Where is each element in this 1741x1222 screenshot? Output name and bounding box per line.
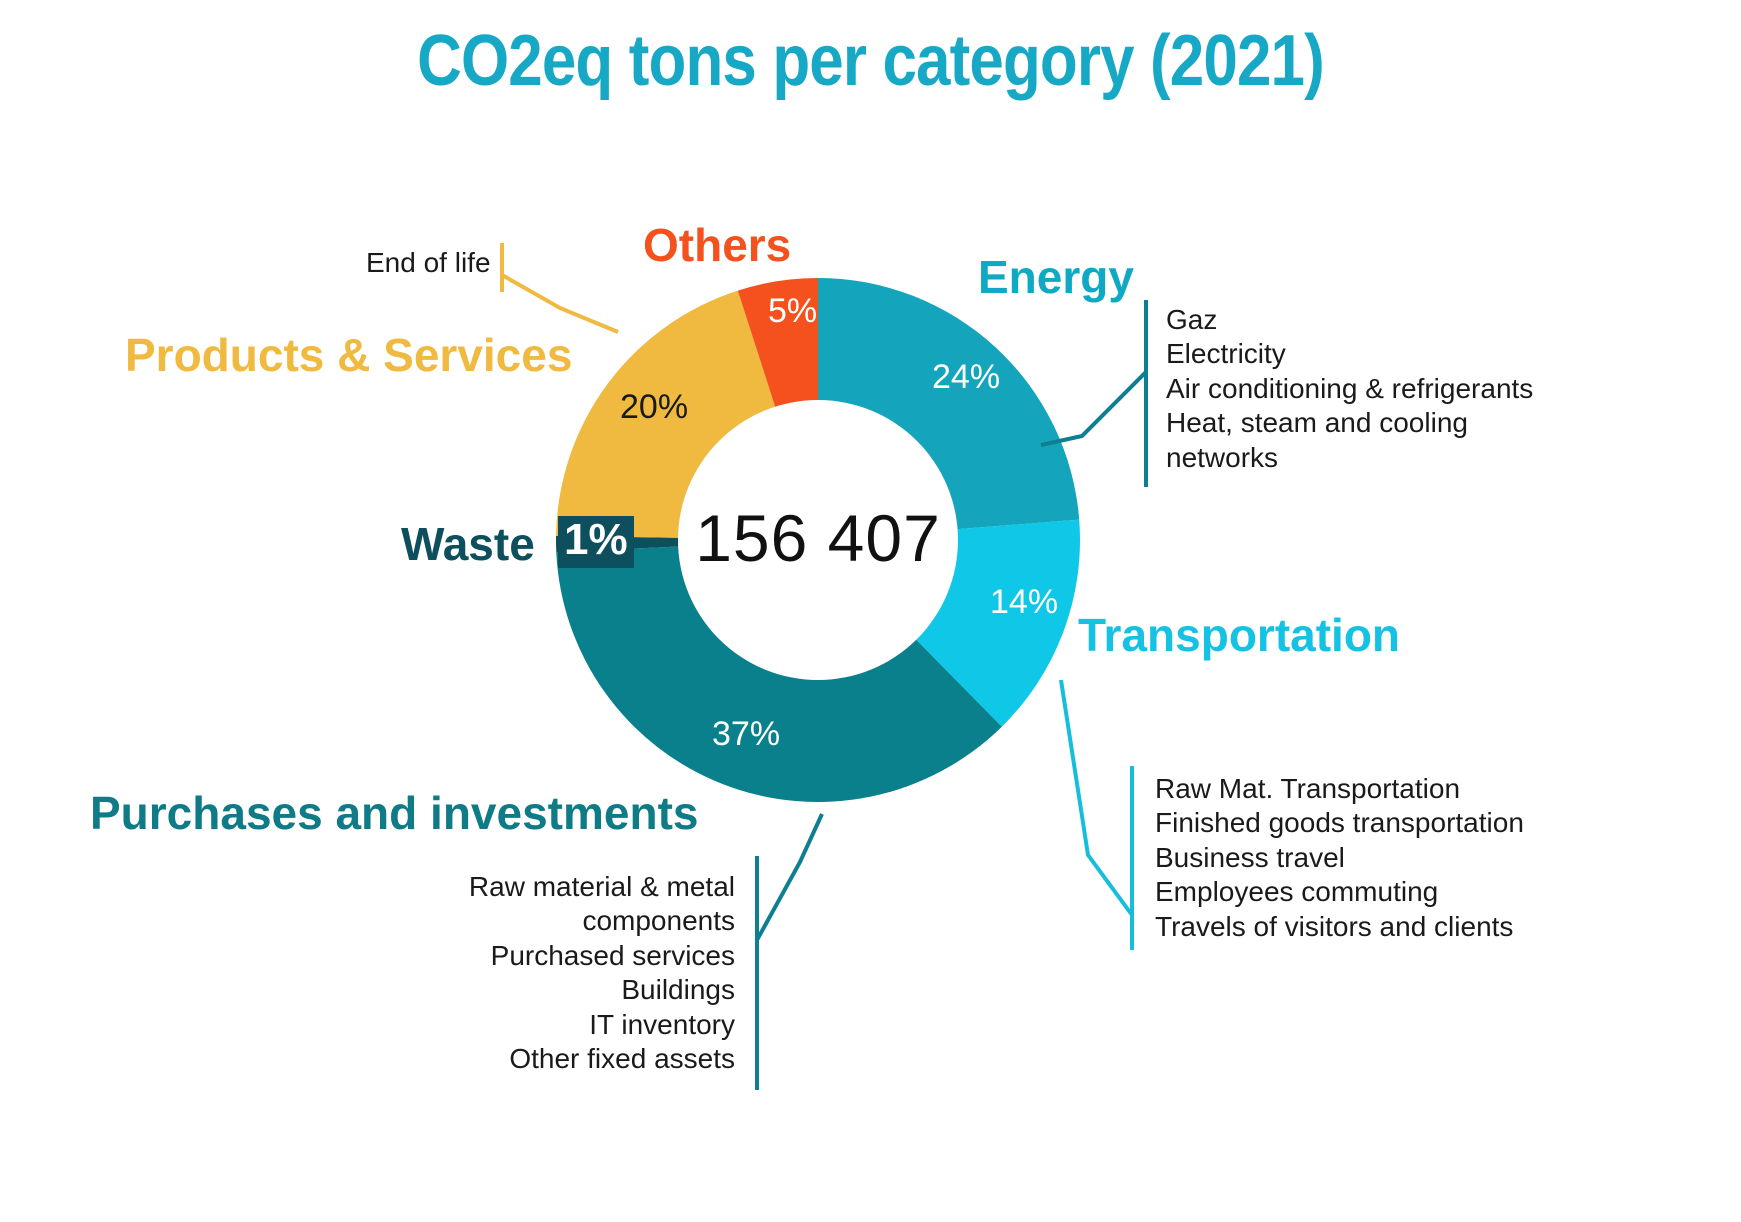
page-title: CO2eq tons per category (2021) [122,20,1619,102]
category-label-others: Others [643,218,791,272]
list-item: Air conditioning & refrigerants [1166,372,1533,406]
sublist-purchases: Raw material & metal components Purchase… [320,870,735,1077]
category-label-waste: Waste [401,517,535,571]
category-label-purchases: Purchases and investments [90,786,698,840]
slice-pct-energy: 24% [932,358,1000,397]
slice-pct-transportation: 14% [990,583,1058,622]
list-item: Business travel [1155,841,1524,875]
list-item: Other fixed assets [320,1042,735,1076]
list-item: Finished goods transportation [1155,806,1524,840]
list-item: End of life [366,246,491,280]
category-label-transportation: Transportation [1078,608,1400,662]
leader-line-purchases [757,814,822,940]
list-item: networks [1166,441,1533,475]
donut-center-total: 156 407 [556,500,1080,576]
list-item: Gaz [1166,303,1533,337]
list-item: Heat, steam and cooling [1166,406,1533,440]
chart-page: CO2eq tons per category (2021) 156 407 2… [0,0,1741,1222]
slice-pct-purchases: 37% [712,715,780,754]
list-item: Travels of visitors and clients [1155,910,1524,944]
list-item: Electricity [1166,337,1533,371]
list-item: Employees commuting [1155,875,1524,909]
list-item: Purchased services [320,939,735,973]
sublist-products-services: End of life [366,246,491,280]
list-item: Raw Mat. Transportation [1155,772,1524,806]
sublist-transportation: Raw Mat. Transportation Finished goods t… [1155,772,1524,944]
category-label-products-services: Products & Services [125,328,572,382]
list-item: Buildings [320,973,735,1007]
slice-pct-products-services: 20% [620,388,688,427]
slice-pct-others: 5% [768,292,817,331]
slice-pct-waste: 1% [558,516,634,568]
sublist-energy: Gaz Electricity Air conditioning & refri… [1166,303,1533,475]
list-item: Raw material & metal [320,870,735,904]
category-label-energy: Energy [978,250,1134,304]
list-item: IT inventory [320,1008,735,1042]
list-item: components [320,904,735,938]
